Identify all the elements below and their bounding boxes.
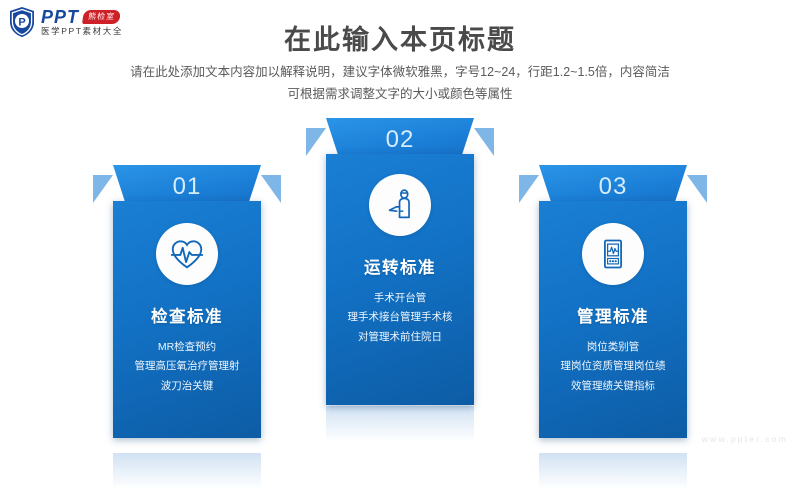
info-card-03[interactable]: 03 管理标准 岗位类别管 理岗位资质管理岗位绩 效管理绩关键指标 bbox=[539, 165, 687, 438]
footer-watermark: www.ppter.com bbox=[702, 434, 788, 444]
card-desc-line: MR检查预约 bbox=[121, 338, 253, 357]
card-title: 检查标准 bbox=[121, 303, 253, 327]
card-description: 岗位类别管 理岗位资质管理岗位绩 效管理绩关键指标 bbox=[547, 338, 679, 396]
info-card-01[interactable]: 01 检查标准 MR检查预约 管理高压氧治疗管理射 波刀治关键 bbox=[113, 165, 261, 438]
card-body: 检查标准 MR检查预约 管理高压氧治疗管理射 波刀治关键 bbox=[113, 201, 261, 438]
info-card-02[interactable]: 02 运转标准 手术开台管 理手术接台管理手术核 对管理术前住院日 bbox=[326, 118, 474, 405]
card-reflection bbox=[326, 406, 474, 442]
subtitle-line-1: 请在此处添加文本内容加以解释说明，建议字体微软雅黑，字号12~24，行距1.2~… bbox=[0, 62, 800, 84]
card-title: 管理标准 bbox=[547, 303, 679, 327]
ribbon-wing-right bbox=[474, 128, 494, 156]
ecg-monitor-icon bbox=[582, 223, 644, 285]
card-body: 运转标准 手术开台管 理手术接台管理手术核 对管理术前住院日 bbox=[326, 154, 474, 405]
card-description: MR检查预约 管理高压氧治疗管理射 波刀治关键 bbox=[121, 338, 253, 396]
doctor-hand-icon bbox=[369, 174, 431, 236]
ribbon-wing-right bbox=[687, 175, 707, 203]
ribbon-wing-left bbox=[306, 128, 326, 156]
card-body: 管理标准 岗位类别管 理岗位资质管理岗位绩 效管理绩关键指标 bbox=[539, 201, 687, 438]
cards-container: 01 检查标准 MR检查预约 管理高压氧治疗管理射 波刀治关键 02 bbox=[0, 118, 800, 438]
card-desc-line: 对管理术前住院日 bbox=[334, 328, 466, 347]
card-description: 手术开台管 理手术接台管理手术核 对管理术前住院日 bbox=[334, 289, 466, 347]
card-desc-line: 岗位类别管 bbox=[547, 338, 679, 357]
card-desc-line: 波刀治关键 bbox=[121, 377, 253, 396]
card-title: 运转标准 bbox=[334, 254, 466, 278]
card-reflection bbox=[539, 453, 687, 489]
heart-pulse-icon bbox=[156, 223, 218, 285]
ribbon-wing-left bbox=[93, 175, 113, 203]
card-desc-line: 理岗位资质管理岗位绩 bbox=[547, 357, 679, 376]
card-desc-line: 理手术接台管理手术核 bbox=[334, 308, 466, 327]
card-desc-line: 手术开台管 bbox=[334, 289, 466, 308]
page-title: 在此输入本页标题 bbox=[0, 18, 800, 57]
page-subtitle: 请在此处添加文本内容加以解释说明，建议字体微软雅黑，字号12~24，行距1.2~… bbox=[0, 62, 800, 106]
subtitle-line-2: 可根据需求调整文字的大小或颜色等属性 bbox=[0, 84, 800, 106]
card-desc-line: 效管理绩关键指标 bbox=[547, 377, 679, 396]
card-desc-line: 管理高压氧治疗管理射 bbox=[121, 357, 253, 376]
card-reflection bbox=[113, 453, 261, 489]
ribbon-wing-right bbox=[261, 175, 281, 203]
ribbon-wing-left bbox=[519, 175, 539, 203]
